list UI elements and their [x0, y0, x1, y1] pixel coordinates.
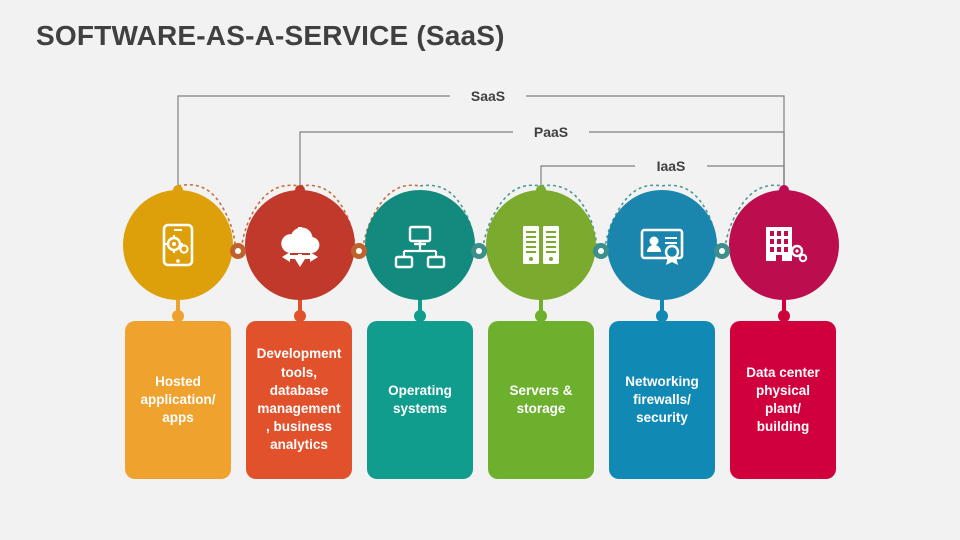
connector-dot-bottom-2 — [294, 310, 306, 322]
id-card-certificate-icon — [630, 213, 694, 277]
mobile-app-gear-icon — [146, 213, 210, 277]
node-circle-development-tools[interactable] — [245, 190, 355, 300]
label-box-networking-security[interactable]: Networking firewalls/ security — [609, 321, 715, 479]
connector-dot-between-4-5[interactable] — [593, 243, 609, 259]
datacenter-building-icon — [752, 213, 816, 277]
label-box-development-tools[interactable]: Development tools, database management ,… — [246, 321, 352, 479]
connector-dot-inner — [719, 248, 725, 254]
connector-dot-inner — [476, 248, 482, 254]
connector-dot-inner — [598, 248, 604, 254]
connector-dot-top-6 — [779, 185, 789, 195]
network-topology-icon — [388, 213, 452, 277]
connector-dot-between-3-4[interactable] — [471, 243, 487, 259]
connector-dot-top-4 — [536, 185, 546, 195]
bracket-label-paas: PaaS — [513, 124, 589, 140]
connector-dot-bottom-1 — [172, 310, 184, 322]
connector-dot-bottom-4 — [535, 310, 547, 322]
bracket-label-saas: SaaS — [450, 88, 526, 104]
page-title: SOFTWARE-AS-A-SERVICE (SaaS) — [36, 20, 505, 52]
connector-dot-bottom-6 — [778, 310, 790, 322]
node-circle-servers-storage[interactable] — [486, 190, 596, 300]
cloud-download-arrows-icon — [268, 213, 332, 277]
connector-dot-top-1 — [173, 185, 183, 195]
node-circle-networking-security[interactable] — [607, 190, 717, 300]
bracket-label-iaas: IaaS — [635, 158, 707, 174]
connector-dot-inner — [235, 248, 241, 254]
label-box-hosted-apps[interactable]: Hosted application/ apps — [125, 321, 231, 479]
connector-dot-between-1-2[interactable] — [230, 243, 246, 259]
label-box-servers-storage[interactable]: Servers & storage — [488, 321, 594, 479]
connector-dot-top-2 — [295, 185, 305, 195]
node-circle-hosted-apps[interactable] — [123, 190, 233, 300]
connector-dot-between-2-3[interactable] — [351, 243, 367, 259]
label-box-operating-systems[interactable]: Operating systems — [367, 321, 473, 479]
node-circle-data-center[interactable] — [729, 190, 839, 300]
servers-rack-icon — [509, 213, 573, 277]
connector-dot-between-5-6[interactable] — [714, 243, 730, 259]
node-circle-operating-systems[interactable] — [365, 190, 475, 300]
connector-dot-inner — [356, 248, 362, 254]
label-box-data-center[interactable]: Data center physical plant/ building — [730, 321, 836, 479]
slide-canvas: SOFTWARE-AS-A-SERVICE (SaaS) SaaS PaaS I… — [0, 0, 960, 540]
connector-dot-bottom-5 — [656, 310, 668, 322]
connector-dot-bottom-3 — [414, 310, 426, 322]
